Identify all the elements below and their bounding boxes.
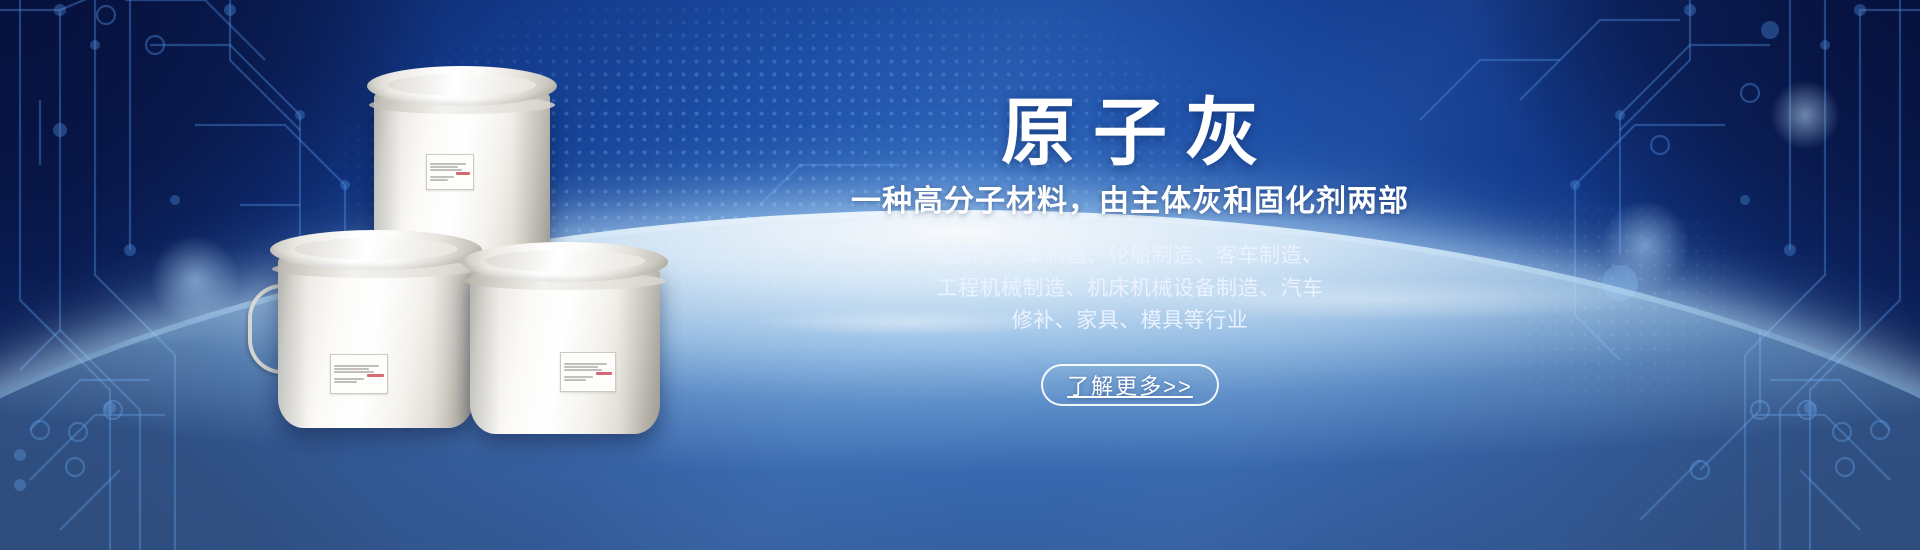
bucket-shading	[278, 256, 474, 428]
banner-title: 原子灰	[760, 96, 1500, 170]
bucket-right	[470, 268, 660, 434]
description-line-1: 适用于火车制造、轮船制造、客车制造、	[760, 240, 1500, 273]
glow-spark-3	[1770, 80, 1840, 150]
bucket-label	[426, 154, 474, 190]
description-line-2: 工程机械制造、机床机械设备制造、汽车	[760, 273, 1500, 306]
banner-content: 原子灰 一种高分子材料，由主体灰和固化剂两部 适用于火车制造、轮船制造、客车制造…	[760, 96, 1500, 406]
banner-description: 适用于火车制造、轮船制造、客车制造、 工程机械制造、机床机械设备制造、汽车 修补…	[760, 240, 1500, 338]
bucket-label	[330, 354, 388, 394]
product-image-buckets	[270, 72, 690, 442]
glow-spark-2	[1600, 200, 1690, 290]
hero-banner: 原子灰 一种高分子材料，由主体灰和固化剂两部 适用于火车制造、轮船制造、客车制造…	[0, 0, 1920, 550]
bucket-lid-inner	[485, 250, 645, 272]
description-line-3: 修补、家具、模具等行业	[760, 305, 1500, 338]
bucket-label	[560, 352, 616, 392]
bucket-shading	[470, 268, 660, 434]
banner-subtitle: 一种高分子材料，由主体灰和固化剂两部	[760, 184, 1500, 220]
bucket-lid-inner	[388, 74, 536, 96]
learn-more-button[interactable]: 了解更多>>	[1041, 364, 1219, 406]
bucket-lid-inner	[294, 238, 459, 260]
cta-container: 了解更多>>	[760, 364, 1500, 406]
bucket-left	[278, 256, 474, 428]
